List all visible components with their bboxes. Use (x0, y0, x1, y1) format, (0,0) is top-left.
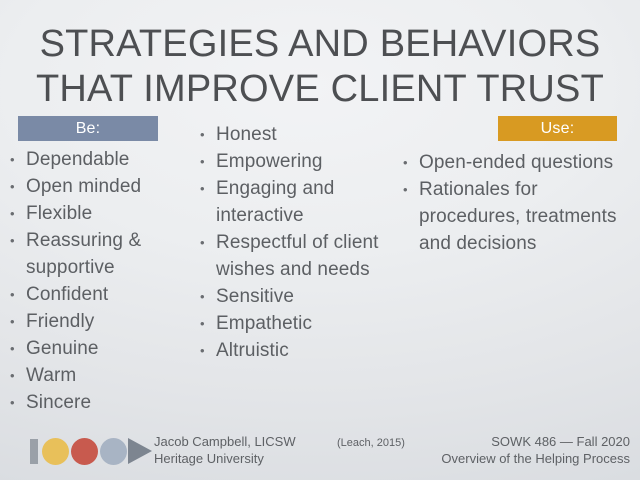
presenter-credit: Jacob Campbell, LICSW Heritage Universit… (154, 433, 296, 467)
list-item: Sensitive (194, 283, 390, 310)
heritage-university-logo-icon (30, 436, 148, 466)
source-citation: (Leach, 2015) (337, 436, 405, 450)
list-item: Friendly (4, 308, 193, 335)
list-item: Reassuring & supportive (4, 227, 193, 281)
logo-circle-red (71, 438, 98, 465)
column-be-continued: Honest Empowering Engaging and interacti… (193, 116, 390, 364)
slide-canvas: STRATEGIES AND BEHAVIORS THAT IMPROVE CL… (0, 0, 640, 480)
logo-circle-yellow (42, 438, 69, 465)
slide-footer: Jacob Campbell, LICSW Heritage Universit… (0, 422, 640, 480)
list-item: Altruistic (194, 337, 390, 364)
bullet-list-use: Open-ended questions Rationales for proc… (393, 149, 640, 257)
list-item: Sincere (4, 389, 193, 416)
course-info: SOWK 486 — Fall 2020 Overview of the Hel… (441, 433, 630, 467)
bullet-list-be-continued: Honest Empowering Engaging and interacti… (194, 121, 390, 364)
column-header-be: Be: (18, 116, 158, 141)
list-item: Empathetic (194, 310, 390, 337)
list-item: Warm (4, 362, 193, 389)
list-item: Open minded (4, 173, 193, 200)
list-item: Honest (194, 121, 390, 148)
logo-bar-shape (30, 439, 38, 464)
content-columns: Be: Dependable Open minded Flexible Reas… (0, 116, 640, 421)
column-be: Be: Dependable Open minded Flexible Reas… (0, 116, 193, 416)
list-item: Rationales for procedures, treatments an… (393, 176, 640, 257)
list-item: Respectful of client wishes and needs (194, 229, 390, 283)
list-item: Dependable (4, 146, 193, 173)
page-title: STRATEGIES AND BEHAVIORS THAT IMPROVE CL… (0, 22, 640, 112)
column-use: Use: Open-ended questions Rationales for… (390, 116, 640, 257)
list-item: Confident (4, 281, 193, 308)
column-header-use: Use: (498, 116, 617, 141)
list-item: Genuine (4, 335, 193, 362)
logo-circle-blue (100, 438, 127, 465)
list-item: Empowering (194, 148, 390, 175)
bullet-list-be: Dependable Open minded Flexible Reassuri… (4, 146, 193, 416)
list-item: Engaging and interactive (194, 175, 390, 229)
list-item: Flexible (4, 200, 193, 227)
list-item: Open-ended questions (393, 149, 640, 176)
logo-triangle-shape (128, 438, 152, 464)
